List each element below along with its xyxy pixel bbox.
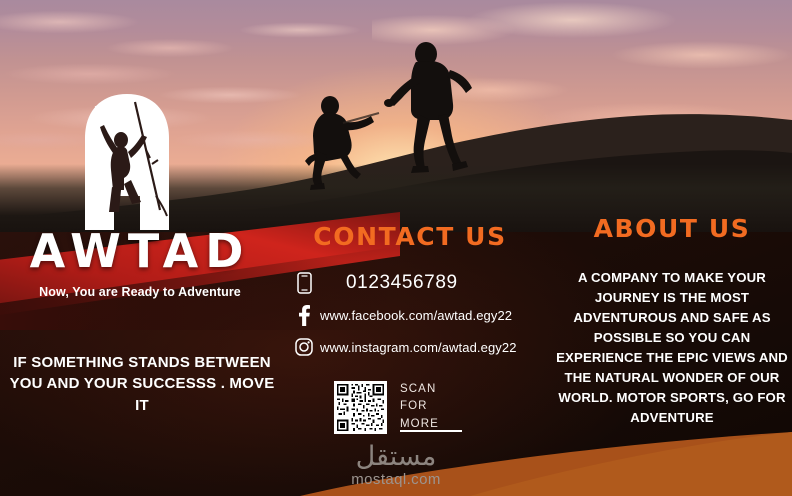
facebook-url: www.facebook.com/awtad.egy22	[320, 308, 512, 323]
brand-wordmark: AWTAD	[0, 228, 280, 274]
contact-list: 0123456789 www.facebook.com/awtad.egy22 …	[288, 268, 548, 364]
phone-number: 0123456789	[320, 272, 458, 294]
mountain-climber-a-logo-icon	[72, 92, 182, 232]
scan-line-1: SCAN	[400, 381, 439, 398]
contact-heading: CONTACT US	[280, 222, 540, 251]
phone-icon	[288, 272, 320, 294]
business-card: AWTAD Now, You are Ready to Adventure IF…	[0, 0, 792, 496]
contact-row-phone[interactable]: 0123456789	[288, 268, 548, 298]
orange-corner-wedge	[0, 426, 792, 496]
instagram-icon	[288, 338, 320, 356]
instagram-url: www.instagram.com/awtad.egy22	[320, 340, 517, 355]
brand-tagline: Now, You are Ready to Adventure	[0, 285, 280, 299]
contact-row-instagram[interactable]: www.instagram.com/awtad.egy22	[288, 332, 548, 362]
hiker-lower-silhouette	[303, 95, 383, 190]
about-heading: ABOUT US	[552, 214, 792, 243]
hiker-upper-silhouette	[380, 40, 490, 185]
about-body-text: A COMPANY TO MAKE YOUR JOURNEY IS THE MO…	[556, 268, 788, 429]
brand-slogan: IF SOMETHING STANDS BETWEEN YOU AND YOUR…	[8, 352, 276, 416]
contact-row-facebook[interactable]: www.facebook.com/awtad.egy22	[288, 300, 548, 330]
facebook-icon	[288, 304, 320, 326]
scan-line-2: FOR	[400, 398, 439, 415]
